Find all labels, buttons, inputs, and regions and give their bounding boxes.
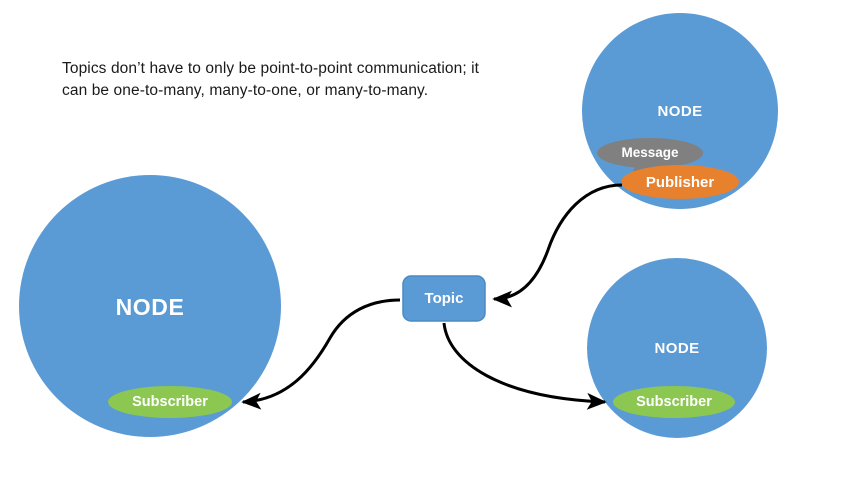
arrow-publisher-to-topic [494, 185, 622, 299]
topic-box-shape[interactable] [403, 276, 485, 321]
publisher-ellipse [621, 165, 739, 199]
subscriber-ellipse-left [108, 386, 232, 418]
arrow-topic-to-subscriber-bottom-right [444, 323, 605, 402]
subscriber-ellipse-bottom-right [613, 386, 735, 418]
caption-text: Topics don’t have to only be point-to-po… [62, 58, 482, 103]
slide-canvas: Topics don’t have to only be point-to-po… [0, 0, 854, 480]
